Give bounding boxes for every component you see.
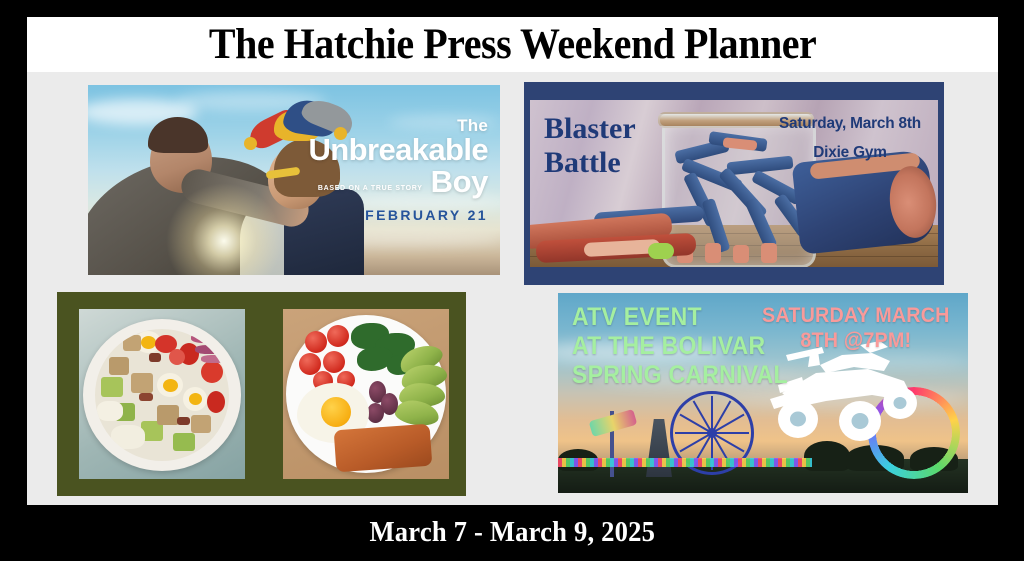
bacon-bit [177,417,190,425]
atv-headline-line1: ATV EVENT [572,303,788,332]
blaster-battle-card[interactable]: Blaster Battle Saturday, March 8th Dixie… [524,82,944,285]
content-panel: The Unbreakable BASED ON A TRUE STORY Bo… [27,72,998,505]
dart-tip [705,243,721,263]
movie-tagline: BASED ON A TRUE STORY [318,185,423,197]
atv-event-card[interactable]: ATV EVENT AT THE BOLIVAR SPRING CARNIVAL… [558,293,968,493]
movie-title-block: The Unbreakable BASED ON A TRUE STORY Bo… [302,117,488,223]
tomato-piece [207,391,225,413]
chicken-cube [131,373,153,393]
avocado-cube [101,377,123,397]
egg-yolk-piece [189,393,202,405]
avocado-cube [173,433,195,451]
atv-event-datetime: SATURDAY MARCH 8TH @7PM! [762,303,950,353]
blaster-title-line2: Battle [544,146,636,180]
breakfast-plate-photo [283,309,449,479]
atv-datetime-line1: SATURDAY MARCH [762,303,950,328]
weekend-planner-poster: The Hatchie Press Weekend Planner [0,0,1024,561]
jester-hat-bell [244,137,257,150]
bacon-bit [149,353,161,362]
blaster-title-line1: Blaster [544,112,636,146]
red-onion-slice [195,345,225,354]
food-photos-card[interactable] [57,292,466,496]
movie-title-main: Unbreakable [302,134,488,166]
midway-light-strip [558,458,812,467]
movie-poster-card[interactable]: The Unbreakable BASED ON A TRUE STORY Bo… [88,85,500,275]
tomato-piece [169,349,185,365]
dart-tip [761,243,777,263]
blaster-battle-photo: Blaster Battle Saturday, March 8th Dixie… [530,100,938,267]
fried-egg-yolk [321,397,351,427]
chicken-cube [123,335,141,351]
atv-headline: ATV EVENT AT THE BOLIVAR SPRING CARNIVAL [572,303,788,390]
movie-release-date: FEBRUARY 21 [302,207,488,223]
salad-bowl-photo [79,309,245,479]
atv-headline-line3: SPRING CARNIVAL [572,361,788,390]
atv-headline-line2: AT THE BOLIVAR [572,332,788,361]
carnival-tower-ride [646,419,672,477]
bacon-bit [139,393,153,401]
salmon-fillet [334,424,433,473]
poster-footer-bar: March 7 - March 9, 2025 [0,505,1024,561]
chicken-cube [109,357,129,375]
page-title: The Hatchie Press Weekend Planner [209,23,816,66]
blaster-event-venue: Dixie Gym [779,139,921,168]
cherry-tomato [323,351,345,373]
atv-datetime-line2: 8TH @7PM! [762,328,950,353]
red-onion-slice [191,333,223,343]
egg-yolk-piece [141,336,156,349]
movie-tagline-row: BASED ON A TRUE STORY Boy [302,166,488,197]
red-onion-slice [201,355,227,363]
blaster-event-details: Saturday, March 8th Dixie Gym [779,110,921,168]
salad-contents [95,329,229,461]
olive [367,403,384,423]
poster-title-bar: The Hatchie Press Weekend Planner [27,17,998,72]
cherry-tomato [305,331,327,353]
blaster-battle-title: Blaster Battle [544,112,636,179]
chicken-cube [191,415,211,433]
tomato-piece [201,361,223,383]
cherry-tomato [327,325,349,347]
toy-blaster-green-tip [648,243,674,259]
date-range-label: March 7 - March 9, 2025 [369,517,655,549]
blaster-event-date: Saturday, March 8th [779,110,921,139]
cheese-crumble [97,401,123,421]
dart-tip [733,245,749,263]
egg-yolk-piece [163,379,178,392]
chicken-cube [157,405,179,425]
cheese-crumble [111,425,145,449]
movie-title-boy: Boy [431,166,488,197]
